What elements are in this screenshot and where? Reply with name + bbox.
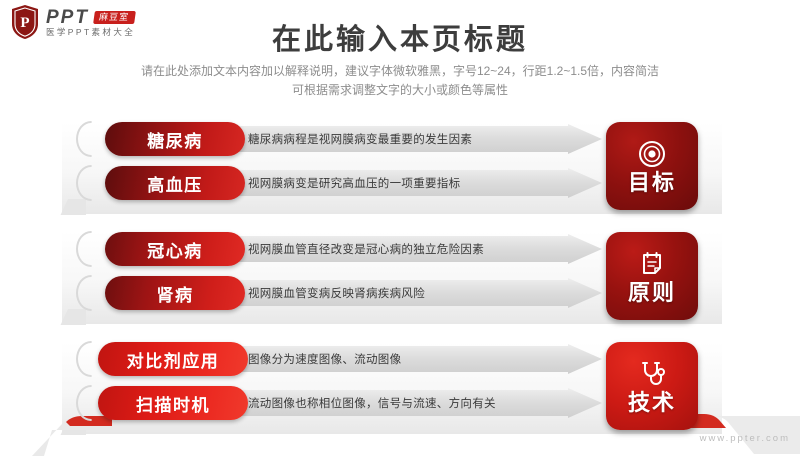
category-pill[interactable]: 冠心病 bbox=[105, 232, 245, 266]
category-pill[interactable]: 对比剂应用 bbox=[98, 342, 248, 376]
subtitle-line-2: 可根据需求调整文字的大小或颜色等属性 bbox=[0, 81, 800, 100]
content-row: 对比剂应用 扫描时机 图像分为速度图像、流动图像 流动图像也称相位图像，信号与流… bbox=[0, 334, 800, 430]
category-description: 视网膜血管变病反映肾病疾病风险 bbox=[248, 285, 588, 301]
category-pill[interactable]: 糖尿病 bbox=[105, 122, 245, 156]
subtitle-line-1: 请在此处添加文本内容加以解释说明，建议字体微软雅黑，字号12~24，行距1.2~… bbox=[0, 62, 800, 81]
summary-badge[interactable]: 技术 bbox=[606, 342, 698, 430]
corner-decoration-left bbox=[0, 416, 112, 456]
category-description: 视网膜血管直径改变是冠心病的独立危险因素 bbox=[248, 241, 588, 257]
category-pill[interactable]: 扫描时机 bbox=[98, 386, 248, 420]
badge-label: 技术 bbox=[628, 392, 676, 414]
badge-label: 目标 bbox=[628, 172, 676, 194]
page-subtitle: 请在此处添加文本内容加以解释说明，建议字体微软雅黑，字号12~24，行距1.2~… bbox=[0, 62, 800, 100]
summary-badge[interactable]: 目标 bbox=[606, 122, 698, 210]
content-row: 糖尿病 高血压 糖尿病病程是视网膜病变最重要的发生因素 视网膜病变是研究高血压的… bbox=[0, 114, 800, 210]
category-pill[interactable]: 肾病 bbox=[105, 276, 245, 310]
content-row: 冠心病 肾病 视网膜血管直径改变是冠心病的独立危险因素 视网膜血管变病反映肾病疾… bbox=[0, 224, 800, 320]
page-title: 在此输入本页标题 bbox=[0, 16, 800, 58]
target-icon bbox=[637, 139, 667, 169]
category-description: 糖尿病病程是视网膜病变最重要的发生因素 bbox=[248, 131, 588, 147]
category-description: 图像分为速度图像、流动图像 bbox=[248, 351, 588, 367]
summary-badge[interactable]: 原则 bbox=[606, 232, 698, 320]
badge-label: 原则 bbox=[628, 282, 676, 304]
stethoscope-icon bbox=[637, 359, 667, 389]
watermark: www.ppter.com bbox=[700, 433, 790, 444]
category-pill[interactable]: 高血压 bbox=[105, 166, 245, 200]
category-description: 视网膜病变是研究高血压的一项重要指标 bbox=[248, 175, 588, 191]
category-description: 流动图像也称相位图像，信号与流速、方向有关 bbox=[248, 395, 588, 411]
notepad-icon bbox=[637, 249, 667, 279]
